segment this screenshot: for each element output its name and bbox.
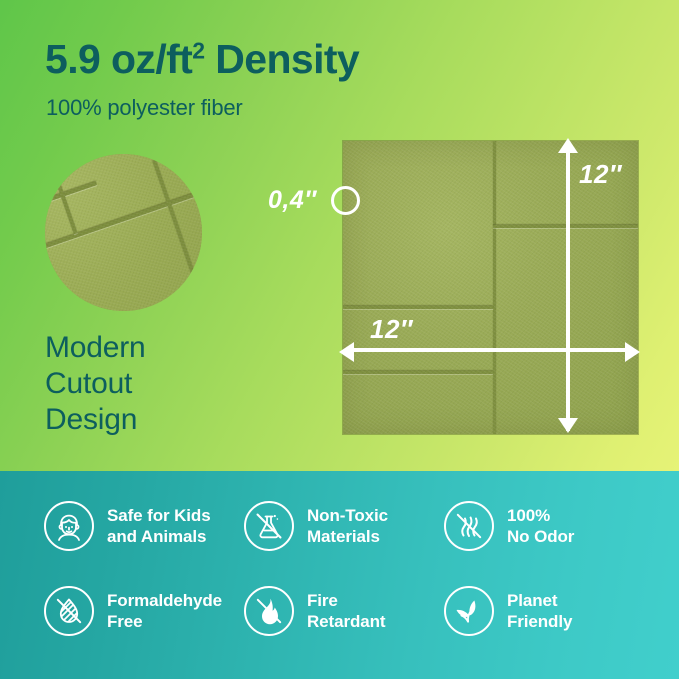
arrow-right-icon xyxy=(625,342,640,362)
thickness-dimension-label: 0,4″ xyxy=(268,186,317,215)
page-subtitle: 100% polyester fiber xyxy=(46,95,243,121)
feature-label: 100% No Odor xyxy=(507,505,574,547)
height-dimension-line xyxy=(566,146,570,431)
feature-label: Formaldehyde Free xyxy=(107,590,222,632)
arrow-down-icon xyxy=(558,418,578,433)
arrow-left-icon xyxy=(339,342,354,362)
headline-suffix: Density xyxy=(204,36,359,82)
swatch-caption: Modern Cutout Design xyxy=(45,330,146,438)
feature-item-formaldehyde-free: Formaldehyde Free xyxy=(44,568,244,653)
child-face-icon xyxy=(44,501,94,551)
feature-item-safe-for-kids: Safe for Kids and Animals xyxy=(44,483,244,568)
no-flask-icon xyxy=(244,501,294,551)
leaves-icon xyxy=(444,586,494,636)
thickness-circle-icon xyxy=(331,186,360,215)
no-droplet-icon xyxy=(44,586,94,636)
height-dimension-label: 12″ xyxy=(579,159,622,190)
width-dimension-label: 12″ xyxy=(370,314,413,345)
feature-item-no-odor: 100% No Odor xyxy=(444,483,644,568)
feature-item-fire-retardant: Fire Retardant xyxy=(244,568,444,653)
swatch-texture xyxy=(45,154,202,311)
feature-item-planet-friendly: Planet Friendly xyxy=(444,568,644,653)
panel-closeup-swatch xyxy=(45,154,202,311)
feature-label: Fire Retardant xyxy=(307,590,385,632)
feature-label: Non-Toxic Materials xyxy=(307,505,388,547)
product-highlight-section: 5.9 oz/ft2 Density 100% polyester fiber … xyxy=(0,0,679,471)
arrow-up-icon xyxy=(558,138,578,153)
headline-superscript: 2 xyxy=(192,37,204,63)
width-dimension-line xyxy=(348,348,634,352)
page-title: 5.9 oz/ft2 Density xyxy=(45,36,359,83)
features-section: Safe for Kids and Animals Non-Toxic Mate… xyxy=(0,471,679,679)
no-odor-icon xyxy=(444,501,494,551)
swatch-noise-overlay xyxy=(45,154,202,311)
feature-label: Planet Friendly xyxy=(507,590,572,632)
feature-label: Safe for Kids and Animals xyxy=(107,505,211,547)
headline-value: 5.9 oz/ft xyxy=(45,36,192,82)
no-flame-icon xyxy=(244,586,294,636)
feature-grid: Safe for Kids and Animals Non-Toxic Mate… xyxy=(44,483,644,653)
feature-item-non-toxic: Non-Toxic Materials xyxy=(244,483,444,568)
